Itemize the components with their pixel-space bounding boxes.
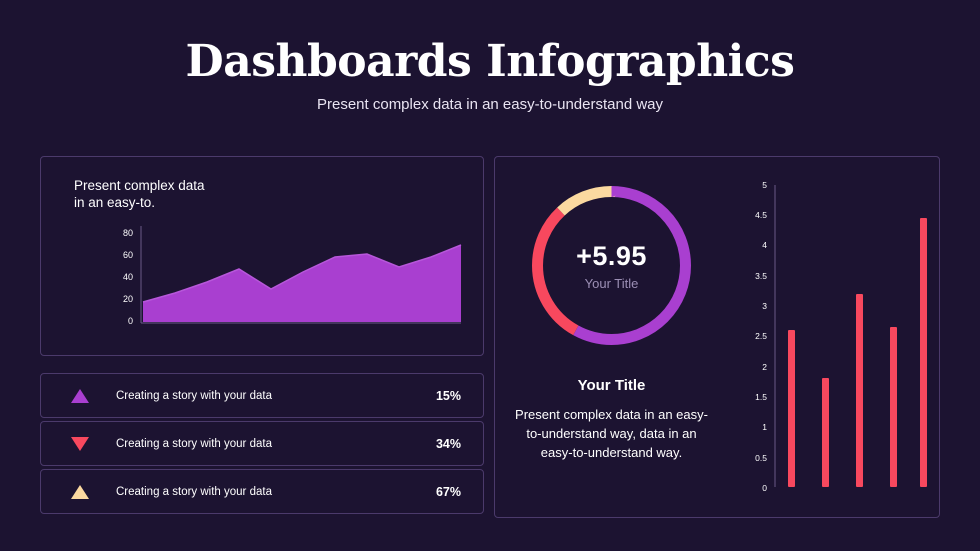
page-title: Dashboards Infographics bbox=[0, 36, 980, 87]
right-card-title: Your Title bbox=[509, 377, 714, 394]
bar-chart: 5 4.5 4 3.5 3 2.5 2 1.5 1 0.5 0 bbox=[727, 167, 932, 512]
bar-ytick-0: 0 bbox=[762, 483, 767, 493]
list-item-label: Creating a story with your data bbox=[116, 438, 272, 450]
donut-value: +5.95 bbox=[576, 241, 647, 272]
area-chart-svg: 80 60 40 20 0 bbox=[41, 157, 485, 357]
bar-1 bbox=[788, 330, 795, 487]
bar-ytick-2.5: 2.5 bbox=[755, 331, 767, 341]
area-ytick-20: 20 bbox=[123, 294, 133, 304]
bar-ytick-4.5: 4.5 bbox=[755, 210, 767, 220]
triangle-up-icon bbox=[71, 389, 89, 403]
bar-4 bbox=[890, 327, 897, 487]
list-item-value: 15% bbox=[436, 389, 461, 403]
area-ytick-60: 60 bbox=[123, 250, 133, 260]
list-item-value: 67% bbox=[436, 485, 461, 499]
bar-ytick-1.5: 1.5 bbox=[755, 392, 767, 402]
bar-ytick-1: 1 bbox=[762, 422, 767, 432]
list-item[interactable]: Creating a story with your data 67% bbox=[40, 469, 484, 514]
bar-ytick-3.5: 3.5 bbox=[755, 271, 767, 281]
list-item[interactable]: Creating a story with your data 15% bbox=[40, 373, 484, 418]
area-ytick-0: 0 bbox=[128, 316, 133, 326]
list-item-value: 34% bbox=[436, 437, 461, 451]
bar-ytick-3: 3 bbox=[762, 301, 767, 311]
list-item-label: Creating a story with your data bbox=[116, 390, 272, 402]
area-series-path bbox=[143, 245, 461, 322]
bar-ytick-5: 5 bbox=[762, 180, 767, 190]
list-item[interactable]: Creating a story with your data 34% bbox=[40, 421, 484, 466]
area-chart: 80 60 40 20 0 bbox=[41, 157, 485, 357]
area-ytick-40: 40 bbox=[123, 272, 133, 282]
donut-center-labels: +5.95 Your Title bbox=[519, 173, 704, 358]
bar-2 bbox=[822, 378, 829, 487]
donut-caption: Your Title bbox=[585, 276, 639, 291]
triangle-down-icon bbox=[71, 437, 89, 451]
bar-chart-svg: 5 4.5 4 3.5 3 2.5 2 1.5 1 0.5 0 bbox=[727, 167, 932, 512]
donut-and-bars-panel: +5.95 Your Title Your Title Present comp… bbox=[494, 156, 940, 518]
bar-5 bbox=[920, 218, 927, 487]
area-ytick-80: 80 bbox=[123, 228, 133, 238]
bar-ytick-4: 4 bbox=[762, 240, 767, 250]
list-item-label: Creating a story with your data bbox=[116, 486, 272, 498]
bar-ytick-0.5: 0.5 bbox=[755, 453, 767, 463]
triangle-up-icon bbox=[71, 485, 89, 499]
bar-3 bbox=[856, 294, 863, 487]
bar-ytick-2: 2 bbox=[762, 362, 767, 372]
right-card-body: Present complex data in an easy-to-under… bbox=[509, 405, 714, 462]
area-chart-panel: Present complex data in an easy-to. 80 6… bbox=[40, 156, 484, 356]
donut-chart: +5.95 Your Title bbox=[519, 173, 704, 358]
page-subtitle: Present complex data in an easy-to-under… bbox=[0, 96, 980, 113]
